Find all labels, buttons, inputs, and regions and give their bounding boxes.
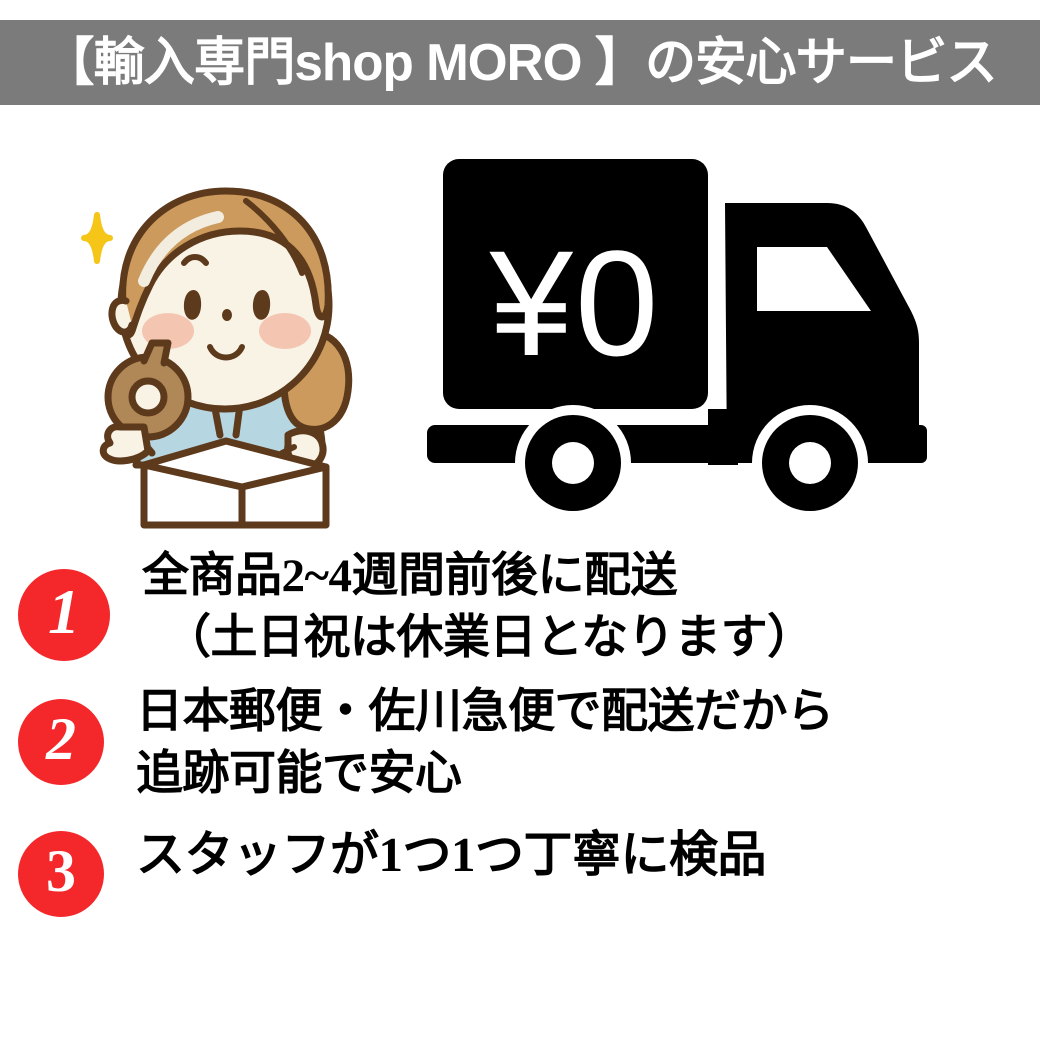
list-item-line: 追跡可能で安心 — [136, 743, 1040, 805]
list-item: 2 日本郵便・佐川急便で配送だから 追跡可能で安心 — [0, 681, 1040, 805]
badge-circle-1: 1 — [18, 569, 110, 661]
list-item-text: スタッフが1つ1つ丁寧に検品 — [136, 823, 1040, 888]
list-item-line: スタッフが1つ1つ丁寧に検品 — [136, 823, 1040, 888]
badge-number: 3 — [46, 841, 76, 901]
list-item: 1 全商品2~4週間前後に配送 （土日祝は休業日となります） — [0, 545, 1040, 669]
illustration-row: ¥0 — [0, 125, 1040, 530]
list-item-text: 全商品2~4週間前後に配送 （土日祝は休業日となります） — [142, 545, 1040, 669]
status-badge: 3 — [18, 831, 104, 917]
list-item-line: 日本郵便・佐川急便で配送だから — [136, 681, 1040, 743]
staff-inspecting-package-illustration — [40, 135, 410, 530]
list-item-line: 全商品2~4週間前後に配送 — [142, 545, 1040, 607]
badge-number: 2 — [46, 709, 76, 769]
badge-circle-3: 3 — [18, 831, 104, 917]
status-badge: 2 — [18, 699, 104, 785]
list-item-line: （土日祝は休業日となります） — [142, 607, 1040, 669]
free-shipping-truck-illustration: ¥0 — [415, 135, 1015, 520]
badge-circle-2: 2 — [18, 699, 104, 785]
page-title: 【輸入専門shop MORO 】の安心サービス — [43, 37, 996, 89]
list-item-text: 日本郵便・佐川急便で配送だから 追跡可能で安心 — [136, 681, 1040, 805]
sparkle-icon — [84, 215, 110, 261]
list-item: 3 スタッフが1つ1つ丁寧に検品 — [0, 823, 1040, 917]
truck-cargo-label: ¥0 — [489, 219, 661, 387]
status-badge: 1 — [18, 569, 110, 661]
service-points-list: 1 全商品2~4週間前後に配送 （土日祝は休業日となります） 2 日本郵便・佐川… — [0, 545, 1040, 917]
service-banner: 【輸入専門shop MORO 】の安心サービス — [0, 20, 1040, 105]
badge-number: 1 — [48, 580, 80, 644]
